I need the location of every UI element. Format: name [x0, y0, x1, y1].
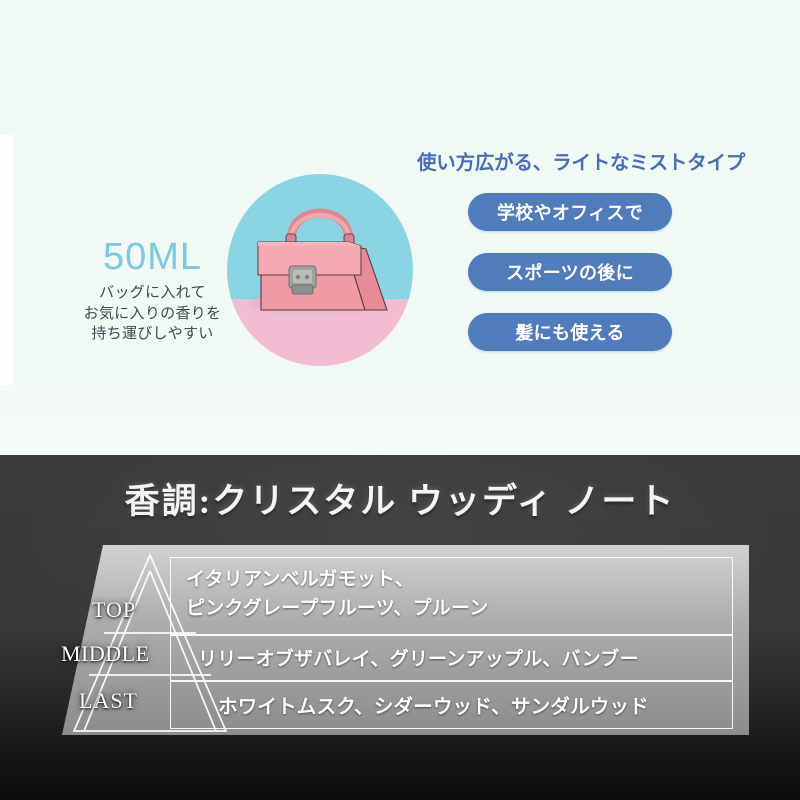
pyramid-label-top: TOP [92, 597, 136, 623]
volume-description-line: 持ち運びしやすい [60, 324, 245, 345]
volume-description-line: お気に入りの香りを [60, 304, 245, 325]
volume-block: 50ML バッグに入れて お気に入りの香りを 持ち運びしやすい [60, 238, 245, 345]
usage-pill-school-office: 学校やオフィスで [468, 193, 672, 231]
bottom-fade-strip [0, 385, 800, 455]
usage-pill-list: 学校やオフィスで スポーツの後に 髪にも使える [468, 193, 672, 351]
usage-headline: 使い方広がる、ライトなミストタイプ [417, 146, 745, 175]
product-usage-section: 50ML バッグに入れて お気に入りの香りを 持ち運びしやすい 使い方広がる、ラ… [0, 0, 800, 455]
usage-pill-hair: 髪にも使える [468, 313, 672, 351]
volume-description-line: バッグに入れて [60, 283, 245, 304]
handbag-illustration [227, 174, 413, 366]
pyramid-label-middle: MIDDLE [61, 641, 150, 667]
volume-description: バッグに入れて お気に入りの香りを 持ち運びしやすい [60, 283, 245, 345]
handbag-photo [227, 174, 413, 366]
fragrance-notes-title: 香調:クリスタル ウッディ ノート [0, 473, 800, 524]
pyramid-icon [0, 545, 300, 745]
notes-pyramid: TOP MIDDLE LAST [0, 545, 300, 745]
pyramid-label-last: LAST [79, 688, 138, 714]
volume-value: 50ML [60, 238, 245, 278]
fragrance-notes-section: 香調:クリスタル ウッディ ノート イタリアンベルガモット、 ピンクグレープフル… [0, 455, 800, 800]
usage-pill-after-sports: スポーツの後に [468, 253, 672, 291]
left-white-strip [0, 135, 13, 385]
